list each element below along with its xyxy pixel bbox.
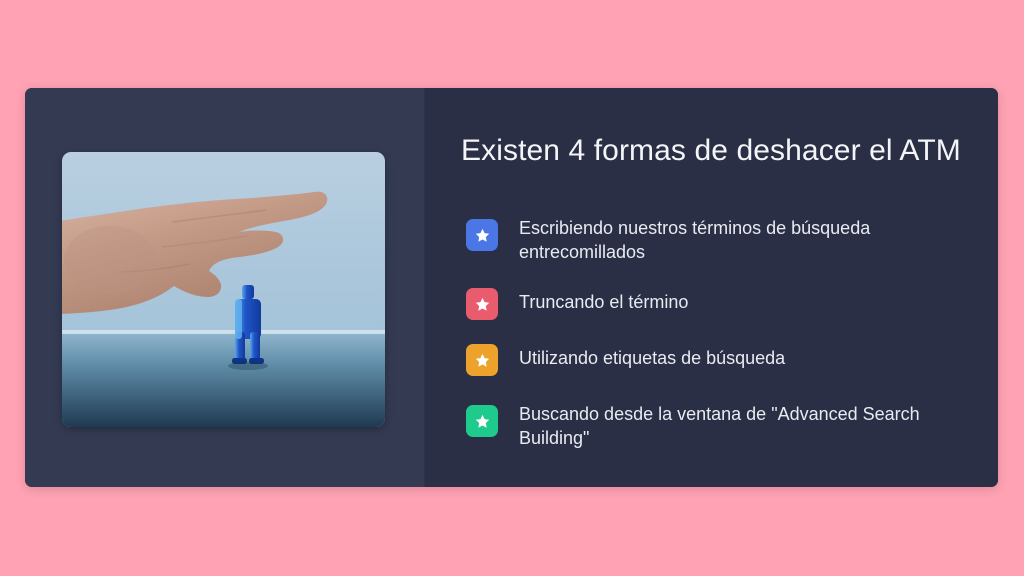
list-item-label: Buscando desde la ventana de "Advanced S… [519, 399, 929, 450]
star-icon [474, 296, 491, 313]
media-panel [25, 88, 425, 487]
list-item: Buscando desde la ventana de "Advanced S… [466, 399, 970, 450]
bullet-badge-3 [466, 344, 498, 376]
star-icon [474, 413, 491, 430]
bullet-badge-4 [466, 405, 498, 437]
star-icon [474, 352, 491, 369]
star-icon [474, 227, 491, 244]
slide-title: Existen 4 formas de deshacer el ATM [461, 133, 968, 169]
photo-artwork [62, 152, 385, 427]
list-item: Utilizando etiquetas de búsqueda [466, 343, 970, 376]
content-panel: Existen 4 formas de deshacer el ATM Escr… [425, 88, 998, 487]
bullet-badge-1 [466, 219, 498, 251]
slide-card: Existen 4 formas de deshacer el ATM Escr… [25, 88, 998, 487]
list-item-label: Escribiendo nuestros términos de búsqued… [519, 213, 929, 264]
list-item-label: Utilizando etiquetas de búsqueda [519, 343, 785, 370]
hand-flicking-figure-photo [62, 152, 385, 427]
bullet-badge-2 [466, 288, 498, 320]
list-item: Truncando el término [466, 287, 970, 320]
list-item-label: Truncando el término [519, 287, 688, 314]
bullet-list: Escribiendo nuestros términos de búsqued… [466, 213, 970, 450]
list-item: Escribiendo nuestros términos de búsqued… [466, 213, 970, 264]
